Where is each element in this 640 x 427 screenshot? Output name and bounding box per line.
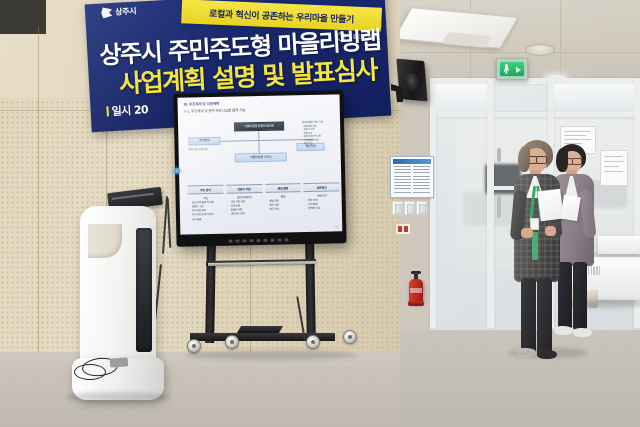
door-handle[interactable] <box>497 196 501 218</box>
slide-table: 주민 참여 주민 마을 의제 발굴 및 제안 실행단 구성 주민 학습 참여 모… <box>187 182 340 222</box>
cart-caster <box>187 339 201 353</box>
slide-header-2: 3-1. 추진체계 및 협력 파트너십별 협력 기능 <box>184 108 246 114</box>
ceiling-seam <box>380 52 640 53</box>
table-item: 제도 개선 <box>265 207 301 212</box>
wall-seam <box>38 26 39 356</box>
cart-base-bar <box>237 326 283 333</box>
extinguisher-label <box>410 288 422 293</box>
diagram-left-box: 주민협의 <box>188 137 220 146</box>
leg-right <box>573 262 587 330</box>
table-item: 협의체 구성 <box>304 207 340 212</box>
wall-corner-shadow <box>0 0 46 34</box>
frosted-glass-panel <box>554 84 634 112</box>
exit-sign-icon <box>500 62 524 76</box>
photo-scene: 상주시 가볼만사업단 로컬과 혁신이 공존하는 우리마을 만들기 상주시 주민주… <box>0 0 640 427</box>
notice-board-header <box>393 159 431 164</box>
cart-caster <box>306 335 320 349</box>
banner-logo-text: 상주시 <box>115 6 137 18</box>
emergency-exit-sign <box>496 58 528 80</box>
diagram-center-box: 마을리빙랩 사무국 <box>235 152 287 162</box>
display-power-indicator <box>174 168 180 174</box>
lectern-body <box>80 206 156 372</box>
hair-side <box>518 146 530 172</box>
notice-board <box>390 156 434 198</box>
diagram-left-note: 주민 의견 수렴 창구 <box>189 148 223 152</box>
display-screen[interactable]: Ⅲ. 추진체계 및 지원계획 3-1. 추진체계 및 협력 파트너십별 협력 기… <box>177 94 342 234</box>
cart-shadow <box>186 350 356 360</box>
glasses-icon <box>572 158 582 165</box>
slide-table-column: 네트워크 외부기관 대학 연계 기업 협력 협의체 구성 <box>304 182 341 219</box>
diagram-side-note: 운영위원회 세부 구성 · 주민대표 3인 · 전문가 2인 · 행정 2인 ·… <box>302 120 337 145</box>
exit-arrow-icon <box>516 67 521 73</box>
glass-frame-rail <box>430 112 640 117</box>
notice-column <box>413 166 430 195</box>
slide-table-column: 주민 참여 주민 마을 의제 발굴 및 제안 실행단 구성 주민 학습 참여 모… <box>187 185 224 222</box>
extinguisher-base <box>408 301 424 306</box>
glasses-icon <box>536 156 547 164</box>
frosted-glass-panel <box>436 84 487 112</box>
running-man-icon <box>504 64 509 74</box>
slide-header-1: Ⅲ. 추진체계 및 지원계획 <box>184 102 220 108</box>
light-switch-plate[interactable] <box>404 201 415 215</box>
cart-caster <box>225 335 239 349</box>
people-shadow <box>508 348 588 358</box>
lectern-notch <box>88 224 122 258</box>
hand-right <box>545 226 556 236</box>
sangju-logo-icon <box>101 7 113 19</box>
fire-extinguisher-sign <box>395 223 411 235</box>
display-control-buttons[interactable] <box>228 237 292 243</box>
slide-table-column: 행정 협력 행정 행정 지원 예산 집행 제도 개선 <box>265 183 302 220</box>
hand-left <box>521 228 533 238</box>
leg-right <box>537 278 552 354</box>
smart-lectern[interactable] <box>72 206 164 396</box>
table-item: 성과 공유 <box>188 217 224 222</box>
glass-frame-post <box>430 78 436 328</box>
lectern-touch-panel[interactable] <box>136 228 152 352</box>
slide-page-number: 12 <box>335 225 338 228</box>
ceiling-speaker-icon <box>525 44 555 56</box>
lectern-shadow <box>66 392 170 402</box>
lanyard-tail <box>532 232 538 260</box>
door-handle[interactable] <box>497 148 501 162</box>
cart-leg <box>305 243 316 343</box>
banner-date-bar-icon <box>106 106 109 116</box>
light-switch-plate[interactable] <box>392 201 403 215</box>
banner-date: 일시 20 <box>106 101 148 119</box>
wall-poster <box>600 150 628 186</box>
table-item: 네트워크 연계 <box>227 212 263 217</box>
cart-caster <box>343 330 357 344</box>
person-speaker-front <box>512 140 568 358</box>
presentation-display[interactable]: Ⅲ. 추진체계 및 지원계획 3-1. 추진체계 및 협력 파트너십별 협력 기… <box>173 90 346 247</box>
fire-extinguisher <box>409 271 423 307</box>
shoe-right <box>573 328 592 337</box>
cart-leg <box>205 243 216 343</box>
leg-left <box>521 278 536 354</box>
power-adapter <box>110 357 129 367</box>
banner-date-text: 일시 20 <box>111 103 148 118</box>
banner-city-logo: 상주시 <box>101 6 137 19</box>
side-table-rear <box>598 236 640 254</box>
glass-frame-post <box>487 78 494 328</box>
light-switch-plate[interactable] <box>416 201 427 215</box>
slide-table-column: 전문가 지원 중간지원조직 사업 기획 자문 교육 운영 컨설팅 지원 네트워크… <box>226 184 263 221</box>
speaker-cone-icon <box>404 72 420 91</box>
diagram-connector <box>258 131 259 153</box>
notice-column <box>394 166 411 195</box>
